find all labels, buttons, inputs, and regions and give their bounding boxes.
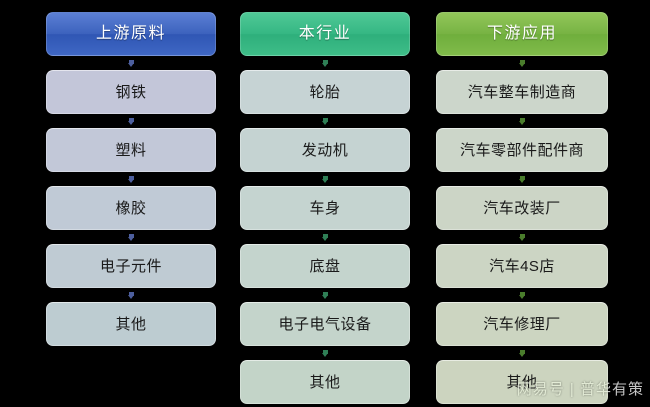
node-upstream-2[interactable]: 橡胶 bbox=[46, 186, 216, 230]
node-upstream-3[interactable]: 电子元件 bbox=[46, 244, 216, 288]
connector-downstream-2 bbox=[436, 172, 608, 186]
node-industry-0[interactable]: 轮胎 bbox=[240, 70, 410, 114]
node-upstream-0-label: 钢铁 bbox=[115, 85, 146, 100]
column-upstream: 上游原料 钢铁 塑料 橡胶 电子元件 其他 bbox=[46, 0, 216, 346]
node-downstream-0[interactable]: 汽车整车制造商 bbox=[436, 70, 608, 114]
connector-industry-5 bbox=[240, 346, 410, 360]
arrow-down-icon bbox=[322, 176, 329, 183]
arrow-down-icon bbox=[128, 60, 135, 67]
node-industry-1[interactable]: 发动机 bbox=[240, 128, 410, 172]
connector-industry-4 bbox=[240, 288, 410, 302]
node-industry-5-label: 其他 bbox=[309, 375, 340, 390]
node-industry-2-label: 车身 bbox=[309, 201, 340, 216]
arrow-down-icon bbox=[519, 234, 526, 241]
column-downstream: 下游应用 汽车整车制造商 汽车零部件配件商 汽车改装厂 汽车4S店 汽车修理厂 … bbox=[436, 0, 608, 404]
column-header-downstream-label: 下游应用 bbox=[487, 26, 557, 42]
node-downstream-1[interactable]: 汽车零部件配件商 bbox=[436, 128, 608, 172]
arrow-down-icon bbox=[519, 176, 526, 183]
node-downstream-3[interactable]: 汽车4S店 bbox=[436, 244, 608, 288]
connector-downstream-3 bbox=[436, 230, 608, 244]
arrow-down-icon bbox=[322, 60, 329, 67]
node-upstream-3-label: 电子元件 bbox=[100, 259, 162, 274]
node-industry-0-label: 轮胎 bbox=[309, 85, 340, 100]
industry-chain-diagram: 上游原料 钢铁 塑料 橡胶 电子元件 其他 本行业 轮胎 发 bbox=[0, 0, 650, 407]
connector-downstream-1 bbox=[436, 114, 608, 128]
connector-upstream-1 bbox=[46, 114, 216, 128]
node-downstream-5[interactable]: 其他 bbox=[436, 360, 608, 404]
node-downstream-0-label: 汽车整车制造商 bbox=[468, 85, 577, 100]
node-upstream-4[interactable]: 其他 bbox=[46, 302, 216, 346]
arrow-down-icon bbox=[128, 292, 135, 299]
node-industry-4-label: 电子电气设备 bbox=[278, 317, 371, 332]
node-industry-5[interactable]: 其他 bbox=[240, 360, 410, 404]
connector-industry-1 bbox=[240, 114, 410, 128]
arrow-down-icon bbox=[519, 60, 526, 67]
arrow-down-icon bbox=[128, 176, 135, 183]
connector-industry-3 bbox=[240, 230, 410, 244]
node-upstream-1[interactable]: 塑料 bbox=[46, 128, 216, 172]
node-industry-4[interactable]: 电子电气设备 bbox=[240, 302, 410, 346]
connector-industry-0 bbox=[240, 56, 410, 70]
column-header-upstream[interactable]: 上游原料 bbox=[46, 12, 216, 56]
arrow-down-icon bbox=[322, 118, 329, 125]
node-industry-2[interactable]: 车身 bbox=[240, 186, 410, 230]
node-downstream-4-label: 汽车修理厂 bbox=[483, 317, 561, 332]
connector-upstream-3 bbox=[46, 230, 216, 244]
connector-downstream-4 bbox=[436, 288, 608, 302]
column-header-industry[interactable]: 本行业 bbox=[240, 12, 410, 56]
connector-downstream-5 bbox=[436, 346, 608, 360]
node-downstream-1-label: 汽车零部件配件商 bbox=[460, 143, 584, 158]
arrow-down-icon bbox=[322, 234, 329, 241]
node-industry-1-label: 发动机 bbox=[302, 143, 349, 158]
connector-upstream-4 bbox=[46, 288, 216, 302]
arrow-down-icon bbox=[519, 350, 526, 357]
node-industry-3[interactable]: 底盘 bbox=[240, 244, 410, 288]
column-industry: 本行业 轮胎 发动机 车身 底盘 电子电气设备 其他 bbox=[240, 0, 410, 404]
node-downstream-2-label: 汽车改装厂 bbox=[483, 201, 561, 216]
node-upstream-2-label: 橡胶 bbox=[115, 201, 146, 216]
node-downstream-3-label: 汽车4S店 bbox=[489, 259, 555, 274]
connector-industry-2 bbox=[240, 172, 410, 186]
arrow-down-icon bbox=[519, 292, 526, 299]
connector-upstream-0 bbox=[46, 56, 216, 70]
node-upstream-4-label: 其他 bbox=[115, 317, 146, 332]
arrow-down-icon bbox=[322, 292, 329, 299]
node-upstream-0[interactable]: 钢铁 bbox=[46, 70, 216, 114]
arrow-down-icon bbox=[322, 350, 329, 357]
arrow-down-icon bbox=[128, 118, 135, 125]
node-downstream-4[interactable]: 汽车修理厂 bbox=[436, 302, 608, 346]
column-header-upstream-label: 上游原料 bbox=[96, 26, 166, 42]
connector-downstream-0 bbox=[436, 56, 608, 70]
node-industry-3-label: 底盘 bbox=[309, 259, 340, 274]
node-downstream-2[interactable]: 汽车改装厂 bbox=[436, 186, 608, 230]
arrow-down-icon bbox=[519, 118, 526, 125]
connector-upstream-2 bbox=[46, 172, 216, 186]
column-header-downstream[interactable]: 下游应用 bbox=[436, 12, 608, 56]
node-upstream-1-label: 塑料 bbox=[115, 143, 146, 158]
column-header-industry-label: 本行业 bbox=[299, 26, 352, 42]
arrow-down-icon bbox=[128, 234, 135, 241]
node-downstream-5-label: 其他 bbox=[506, 375, 537, 390]
